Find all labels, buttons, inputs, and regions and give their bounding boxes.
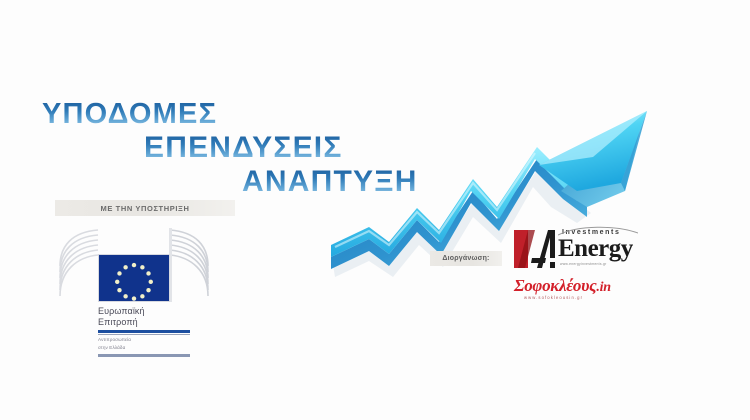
banner-title: ΥΠΟΔΟΜΕΣ ΕΠΕΝΔΥΣΕΙΣ ΑΝΑΠΤΥΞΗ xyxy=(42,100,442,197)
organizer-label-text: Διοργάνωση: xyxy=(442,255,489,262)
ec-wordmark: Ευρωπαϊκή Επιτροπή Αντιπροσωπεία στην Ελ… xyxy=(98,306,248,357)
title-line-anaptyxi: ΑΝΑΠΤΥΞΗ xyxy=(242,167,442,197)
energy-tagline: www.energyinvestments.gr xyxy=(560,262,607,266)
energy-wordmark: Investments Energy www.energyinvestments… xyxy=(558,226,638,272)
ec-name-line2: Επιτροπή xyxy=(98,317,248,328)
promotional-banner: ΥΠΟΔΟΜΕΣ ΕΠΕΝΔΥΣΕΙΣ ΑΝΑΠΤΥΞΗ ΜΕ ΤΗΝ ΥΠΟΣ… xyxy=(0,0,750,420)
eu-stars-icon xyxy=(99,255,169,301)
energy-swoosh-icon xyxy=(558,226,638,238)
sofokleous-wordmark: Σοφοκλέους.in xyxy=(514,276,611,296)
energy-main-word: Energy xyxy=(558,235,633,263)
ec-rule-primary xyxy=(98,330,190,333)
ec-subtitle-line1: Αντιπροσωπεία xyxy=(98,337,248,343)
energy-a-mark-icon xyxy=(512,228,558,270)
eu-flag-icon xyxy=(98,254,170,302)
title-line-ependyseis: ΕΠΕΝΔΥΣΕΙΣ xyxy=(144,133,442,163)
ec-rule-secondary xyxy=(98,334,190,335)
energy-investments-logo[interactable]: Investments Energy www.energyinvestments… xyxy=(512,226,637,272)
sofokleous-suffix: .in xyxy=(596,280,610,295)
support-label-text: ΜΕ ΤΗΝ ΥΠΟΣΤΗΡΙΞΗ xyxy=(101,204,190,213)
european-commission-logo: Ευρωπαϊκή Επιτροπή Αντιπροσωπεία στην Ελ… xyxy=(58,226,248,336)
title-line-ypodomes: ΥΠΟΔΟΜΕΣ xyxy=(42,100,442,129)
sofokleous-url: www.sofokleousin.gr xyxy=(524,295,583,300)
support-label-band: ΜΕ ΤΗΝ ΥΠΟΣΤΗΡΙΞΗ xyxy=(55,200,235,216)
ec-baseline-rule xyxy=(98,354,190,357)
organizer-label-band: Διοργάνωση: xyxy=(430,251,502,266)
sofokleous-main-word: Σοφοκλέους xyxy=(514,276,596,295)
sofokleous-in-logo[interactable]: Σοφοκλέους.in www.sofokleousin.gr xyxy=(514,276,632,304)
ec-subtitle-line2: στην Ελλάδα xyxy=(98,345,248,351)
ec-name-line1: Ευρωπαϊκή xyxy=(98,306,248,317)
